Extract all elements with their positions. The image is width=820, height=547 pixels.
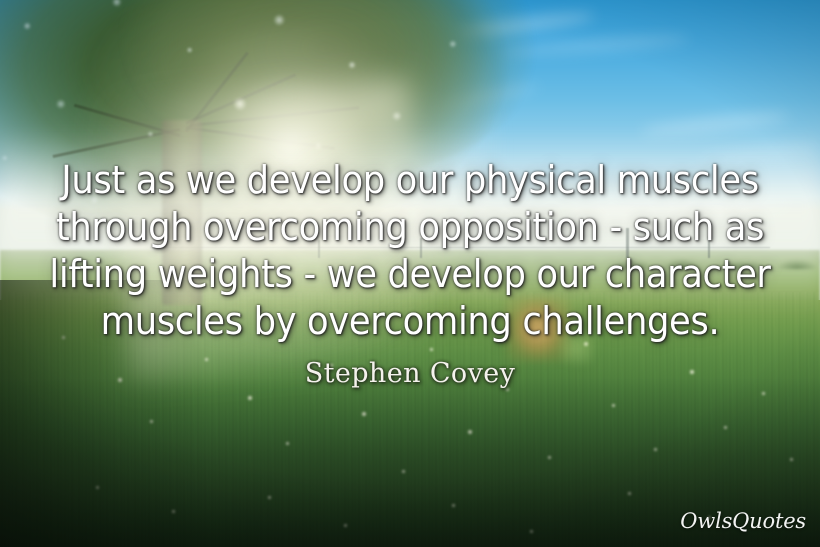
wildflower-speck — [790, 458, 793, 461]
wildflower-speck — [172, 510, 175, 513]
wildflower-speck — [96, 486, 99, 489]
wildflower-speck — [286, 442, 289, 445]
wildflower-speck — [506, 388, 509, 391]
wildflower-speck — [612, 404, 615, 407]
wildflower-speck — [430, 348, 433, 351]
wildflower-speck — [530, 530, 533, 533]
wildflower-speck — [762, 392, 765, 395]
wildflower-speck — [452, 504, 455, 507]
wildflower-speck — [468, 430, 472, 434]
wildflower-speck — [268, 496, 271, 499]
wildflower-speck — [62, 336, 65, 339]
wildflower-speck — [118, 378, 122, 382]
quote-image-card: Just as we develop our physical muscles … — [0, 0, 820, 547]
wildflower-speck — [724, 426, 727, 429]
wildflower-speck — [548, 456, 551, 459]
wildflower-speck — [362, 412, 366, 416]
wildflower-speck — [344, 524, 347, 527]
wildflower-speck — [150, 420, 153, 423]
wildflower-speck — [628, 492, 631, 495]
atmospheric-haze — [0, 130, 820, 310]
wildflower-speck — [690, 370, 694, 374]
wildflower-speck — [248, 396, 252, 400]
wildflower-speck — [402, 470, 405, 473]
green-lens-flare — [560, 330, 594, 364]
wildflower-speck — [654, 448, 657, 451]
owlsquotes-watermark: OwlsQuotes — [680, 509, 806, 533]
